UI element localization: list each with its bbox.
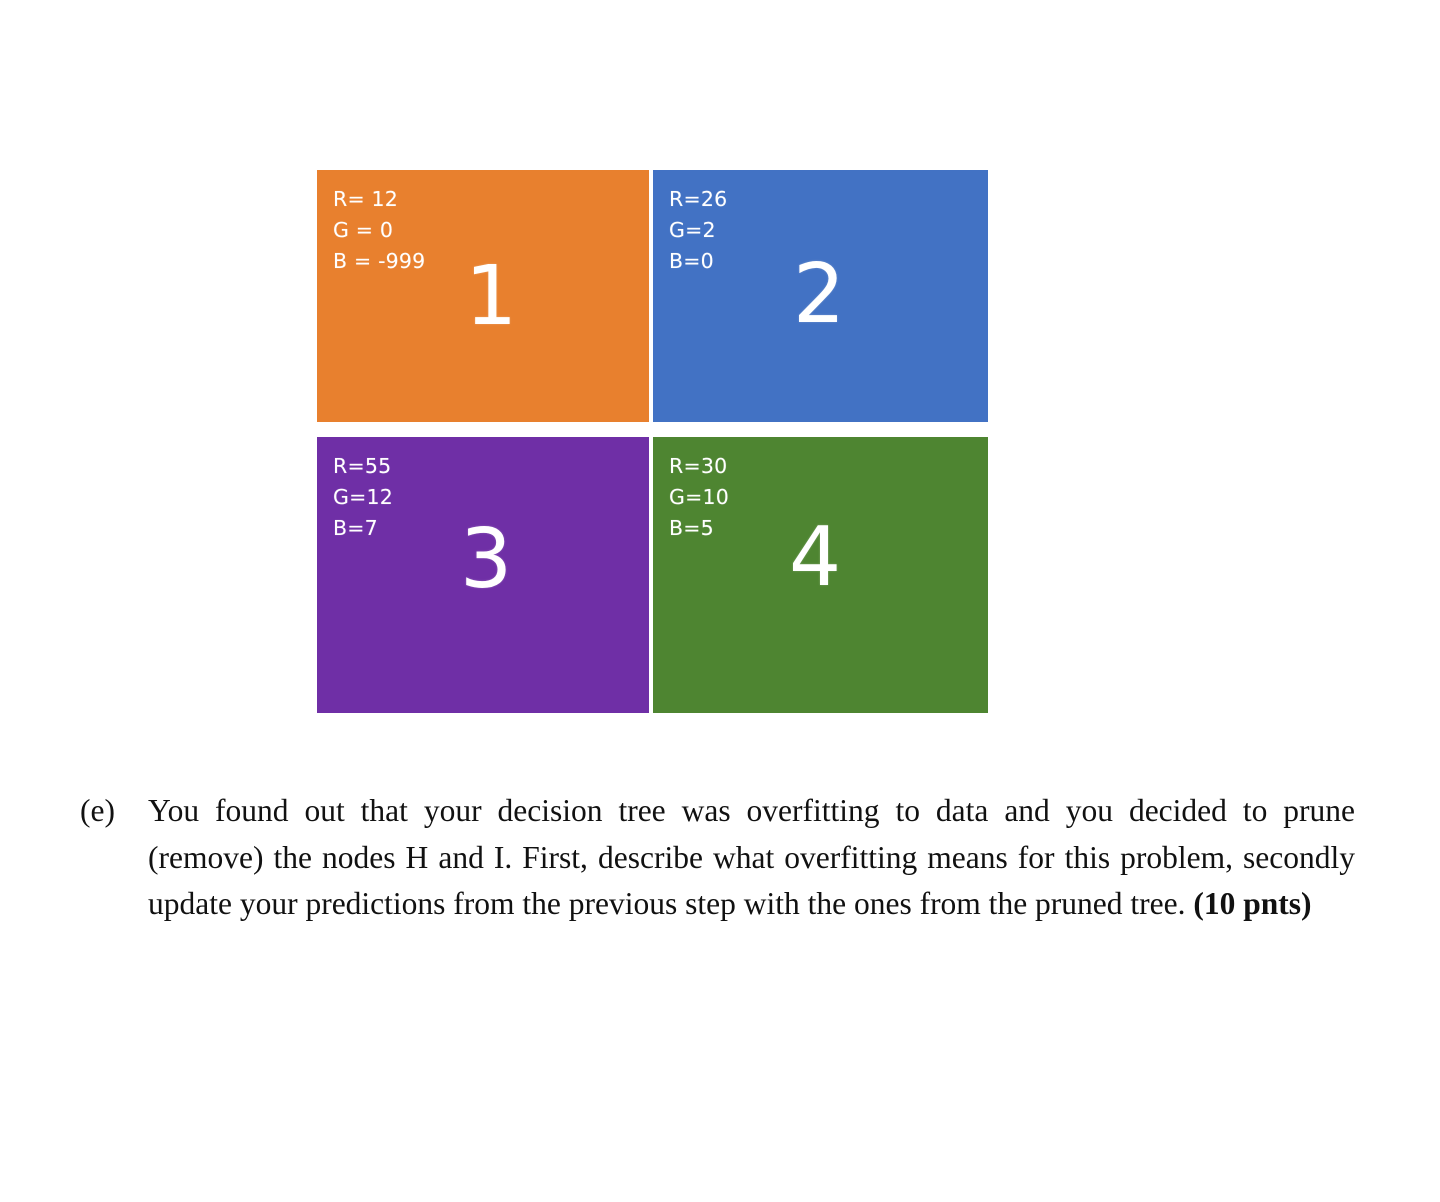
quadrant-1-b-value: B = -999 [333, 246, 649, 277]
quadrant-4-g-value: G=10 [669, 482, 988, 513]
quadrant-4-rgb-values: R=30 G=10 B=5 [669, 451, 988, 544]
rgb-quadrant-figure: R= 12 G = 0 B = -999 1 R=26 G=2 B=0 2 R=… [317, 170, 988, 713]
question-body: You found out that your decision tree wa… [148, 793, 1355, 921]
quadrant-1: R= 12 G = 0 B = -999 1 [317, 170, 649, 422]
quadrant-2-g-value: G=2 [669, 215, 988, 246]
quadrant-2-b-value: B=0 [669, 246, 988, 277]
quadrant-3-r-value: R=55 [333, 451, 649, 482]
question-points: (10 pnts) [1193, 886, 1311, 921]
quadrant-3-rgb-values: R=55 G=12 B=7 [333, 451, 649, 544]
quadrant-1-rgb-values: R= 12 G = 0 B = -999 [333, 184, 649, 277]
quadrant-3: R=55 G=12 B=7 3 [317, 437, 649, 713]
quadrant-3-b-value: B=7 [333, 513, 649, 544]
quadrant-2-r-value: R=26 [669, 184, 988, 215]
question-label: (e) [80, 788, 148, 835]
quadrant-2-rgb-values: R=26 G=2 B=0 [669, 184, 988, 277]
quadrant-4: R=30 G=10 B=5 4 [653, 437, 988, 713]
question-text: You found out that your decision tree wa… [148, 788, 1355, 928]
quadrant-2: R=26 G=2 B=0 2 [653, 170, 988, 422]
quadrant-4-r-value: R=30 [669, 451, 988, 482]
question-block: (e) You found out that your decision tre… [80, 788, 1355, 928]
quadrant-1-r-value: R= 12 [333, 184, 649, 215]
quadrant-1-g-value: G = 0 [333, 215, 649, 246]
quadrant-3-g-value: G=12 [333, 482, 649, 513]
quadrant-4-b-value: B=5 [669, 513, 988, 544]
